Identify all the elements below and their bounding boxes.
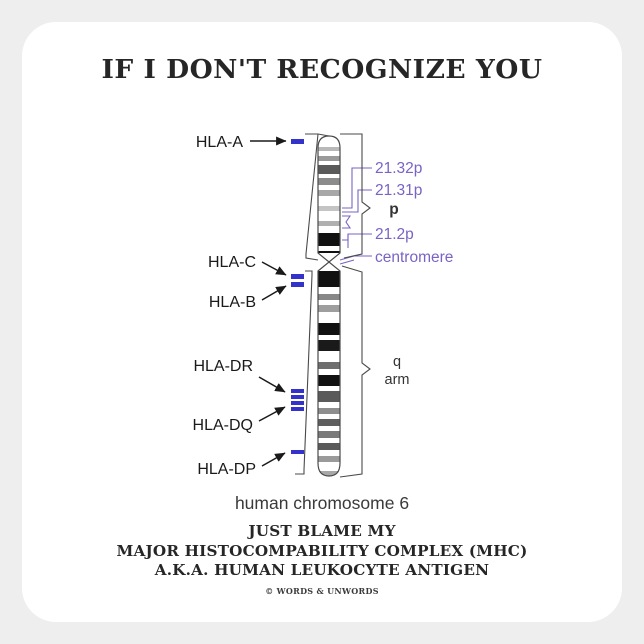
marker-hla-dq-2 [291, 407, 304, 411]
gene-markers [291, 139, 304, 454]
marker-hla-dr-2 [291, 395, 304, 399]
arm-label-texts: p [389, 201, 398, 218]
band-label-21-31p: 21.31p [375, 182, 422, 199]
arrow-hla-dr [259, 377, 285, 392]
ideogram [318, 132, 340, 481]
marker-hla-a [291, 139, 304, 144]
punchline-line-3: A.K.A. HUMAN LEUKOCYTE ANTIGEN [22, 561, 622, 581]
arrow-hla-dp [262, 453, 285, 466]
gene-label-hla-a: HLA-A [196, 134, 243, 151]
marker-hla-dr-1 [291, 389, 304, 393]
marker-hla-dp [291, 450, 304, 454]
band-label-21-32p: 21.32p [375, 160, 422, 177]
arm-brackets [340, 134, 370, 477]
band-leader-lines [340, 168, 372, 264]
gene-label-hla-dr: HLA-DR [193, 358, 253, 375]
gene-label-hla-dp: HLA-DP [197, 461, 256, 478]
gene-label-hla-c: HLA-C [208, 254, 256, 271]
arm-label-p: p [389, 201, 398, 218]
arrow-hla-c [262, 262, 286, 275]
diagram-caption: human chromosome 6 [22, 493, 622, 514]
q-arm-label-texts: q arm [385, 354, 410, 388]
arrow-hla-b [262, 286, 286, 300]
sticker-card: IF I DON'T RECOGNIZE YOU [22, 22, 622, 622]
arrow-hla-dq [259, 407, 285, 421]
punchline-block: JUST BLAME MY MAJOR HISTOCOMPABILITY COM… [22, 522, 622, 596]
gene-label-hla-dq: HLA-DQ [193, 417, 253, 434]
punchline-line-2: MAJOR HISTOCOMPABILITY COMPLEX (MHC) [22, 542, 622, 562]
punchline-line-1: JUST BLAME MY [22, 522, 622, 542]
band-label-texts: 21.32p 21.31p 21.2p centromere [375, 160, 453, 266]
p-arm-bands [318, 132, 340, 261]
gene-label-texts: HLA-A HLA-C HLA-B HLA-DR HLA-DQ HLA-DP [193, 134, 256, 478]
marker-hla-b [291, 282, 304, 287]
marker-hla-c [291, 274, 304, 279]
q-arm-bands [318, 271, 340, 481]
band-label-centromere: centromere [375, 249, 453, 266]
copyright-credit: © WORDS & UNWORDS [22, 586, 622, 596]
marker-hla-dq-1 [291, 401, 304, 405]
band-label-21-2p: 21.2p [375, 226, 414, 243]
arm-label-q: q [393, 354, 401, 370]
arm-label-arm: arm [385, 372, 410, 388]
gene-label-hla-b: HLA-B [209, 294, 256, 311]
